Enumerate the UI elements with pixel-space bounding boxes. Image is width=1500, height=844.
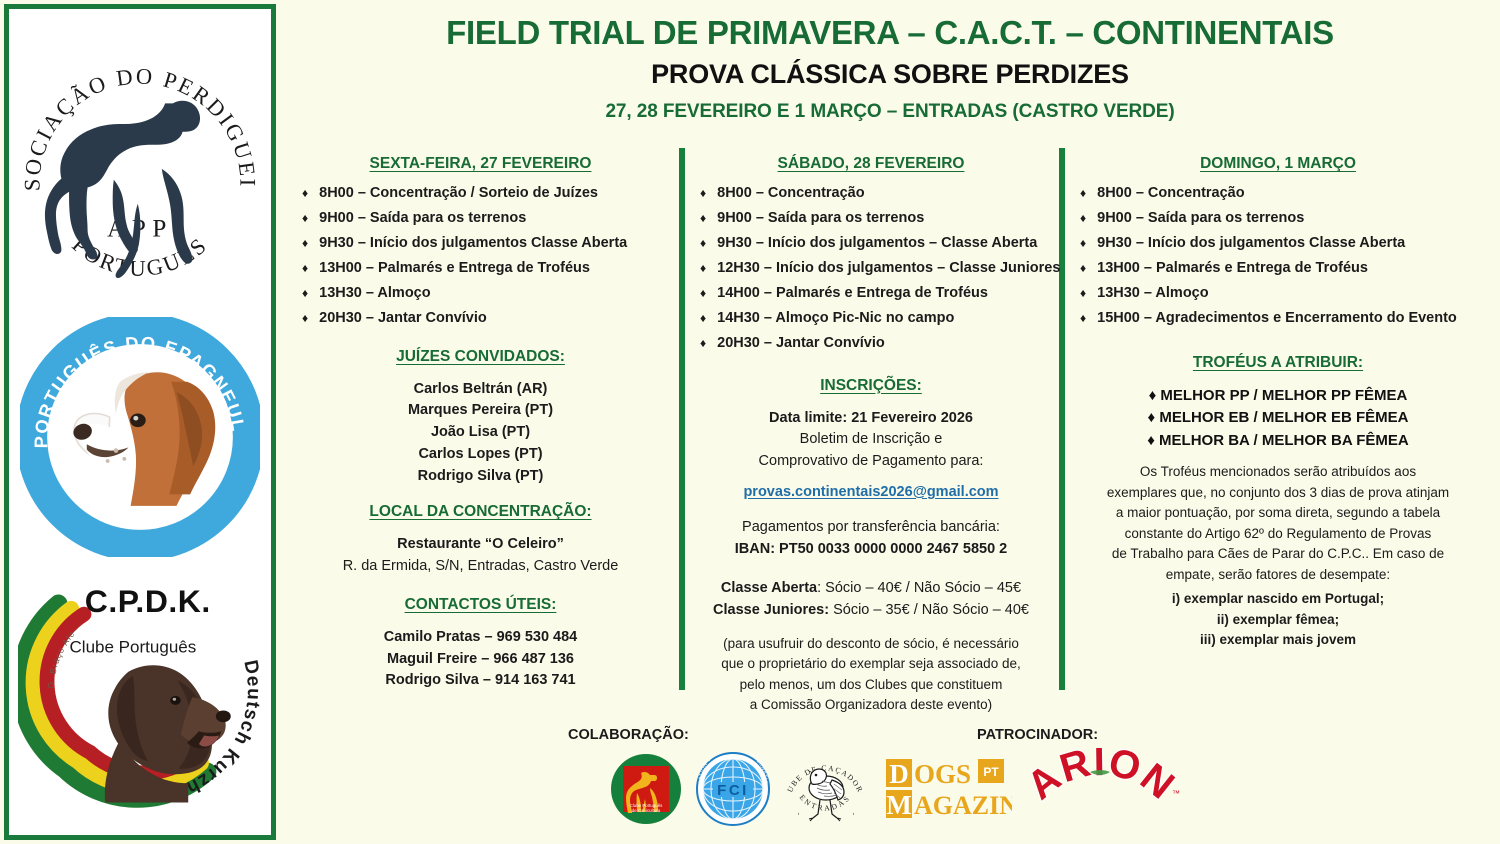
diamond-bullet-icon: ♦	[302, 237, 308, 249]
svg-text:Clube Português: Clube Português	[69, 637, 196, 656]
venue-address: R. da Ermida, S/N, Entradas, Castro Verd…	[288, 556, 673, 578]
saturday-heading: SÁBADO, 28 FEVEREIRO	[690, 155, 1052, 173]
judge-name: Rodrigo Silva (PT)	[288, 466, 673, 488]
fees-section: Classe Aberta: Sócio – 40€ / Não Sócio –…	[690, 578, 1052, 716]
diamond-bullet-icon: ♦	[700, 262, 706, 274]
list-item: ♦14H30 – Almoço Pic-Nic no campo	[700, 311, 1052, 326]
diamond-bullet-icon: ♦	[302, 212, 308, 224]
sidebar-logo-panel: ASSOCIAÇÃO DO PERDIGUEIRO PORTUGUÊS APP	[4, 4, 276, 840]
judge-name: Carlos Beltrán (AR)	[288, 379, 673, 401]
venue-section: LOCAL DA CONCENTRAÇÃO: Restaurante “O Ce…	[288, 503, 673, 578]
svg-text:FCI: FCI	[717, 782, 749, 799]
trophies-section: TROFÉUS A ATRIBUIR: ♦ MELHOR PP / MELHOR…	[1068, 354, 1488, 651]
registration-email-link[interactable]: provas.continentais2026@gmail.com	[743, 484, 998, 500]
tiebreaker-item: i) exemplar nascido em Portugal;	[1068, 589, 1488, 610]
list-item: ♦20H30 – Jantar Convívio	[700, 336, 1052, 351]
list-item: ♦12H30 – Início dos julgamentos – Classe…	[700, 261, 1052, 276]
list-item: ♦8H00 – Concentração	[1080, 186, 1488, 201]
fee-junior-row: Classe Juniores: Sócio – 35€ / Não Sócio…	[690, 600, 1052, 622]
list-item: ♦8H00 – Concentração / Sorteio de Juízes	[302, 186, 673, 201]
trophy-item: ♦ MELHOR BA / MELHOR BA FÊMEA	[1068, 430, 1488, 453]
cpc-logo: Clube Português de Canicultura	[610, 753, 682, 825]
tiebreaker-item: ii) exemplar fêmea;	[1068, 610, 1488, 631]
venue-name: Restaurante “O Celeiro”	[288, 534, 673, 556]
payment-line: Pagamentos por transferência bancária:	[690, 517, 1052, 539]
trophies-heading: TROFÉUS A ATRIBUIR:	[1068, 354, 1488, 372]
fee-open-label: Classe Aberta	[721, 580, 817, 596]
tiebreaker-item: iii) exemplar mais jovem	[1068, 630, 1488, 651]
trophy-note-line: exemplares que, no conjunto dos 3 dias d…	[1068, 483, 1488, 504]
diamond-bullet-icon: ♦	[700, 337, 706, 349]
trophy-note-line: de Trabalho para Cães de Parar do C.P.C.…	[1068, 544, 1488, 565]
svg-text:M: M	[886, 790, 911, 820]
column-friday: SEXTA-FEIRA, 27 FEVEREIRO ♦8H00 – Concen…	[288, 155, 673, 692]
column-sunday: DOMINGO, 1 MARÇO ♦8H00 – Concentração ♦9…	[1068, 155, 1488, 651]
list-item: ♦13H30 – Almoço	[1080, 286, 1488, 301]
diamond-bullet-icon: ♦	[1080, 187, 1086, 199]
registration-heading: INSCRIÇÕES:	[690, 377, 1052, 395]
svg-text:ASSOCIAÇÃO DO PERDIGUEIRO: ASSOCIAÇÃO DO PERDIGUEIRO	[9, 31, 260, 191]
judges-section: JUÍZES CONVIDADOS: Carlos Beltrán (AR) M…	[288, 348, 673, 488]
svg-text:D: D	[889, 759, 909, 789]
friday-heading: SEXTA-FEIRA, 27 FEVEREIRO	[288, 155, 673, 173]
app-logo: ASSOCIAÇÃO DO PERDIGUEIRO PORTUGUÊS APP	[9, 31, 271, 311]
venue-heading: LOCAL DA CONCENTRAÇÃO:	[288, 503, 673, 521]
contacts-heading: CONTACTOS ÚTEIS:	[288, 596, 673, 614]
contact-entry: Rodrigo Silva – 914 163 741	[288, 670, 673, 692]
page-title: FIELD TRIAL DE PRIMAVERA – C.A.C.T. – CO…	[290, 14, 1490, 52]
judge-name: Marques Pereira (PT)	[288, 400, 673, 422]
diamond-bullet-icon: ♦	[700, 212, 706, 224]
trophy-item: ♦ MELHOR EB / MELHOR EB FÊMEA	[1068, 407, 1488, 430]
trophy-note-line: constante do Artigo 62º do Regulamento d…	[1068, 524, 1488, 545]
registration-deadline: Data limite: 21 Fevereiro 2026	[690, 408, 1052, 430]
list-item: ♦9H30 – Início dos julgamentos Classe Ab…	[302, 236, 673, 251]
fee-open-value: : Sócio – 40€ / Não Sócio – 45€	[817, 580, 1021, 596]
judge-name: Carlos Lopes (PT)	[288, 444, 673, 466]
collaboration-label: COLABORAÇÃO:	[568, 727, 689, 743]
column-saturday: SÁBADO, 28 FEVEREIRO ♦8H00 – Concentraçã…	[690, 155, 1052, 716]
sponsor-label: PATROCINADOR:	[977, 727, 1098, 743]
sponsor-logos: ARION ™	[1022, 748, 1180, 820]
list-item: ♦20H30 – Jantar Convívio	[302, 311, 673, 326]
svg-text:OGS: OGS	[914, 759, 971, 789]
svg-text:AGAZINE: AGAZINE	[914, 791, 1012, 820]
fee-junior-value: Sócio – 35€ / Não Sócio – 40€	[829, 602, 1029, 618]
fee-note-line: a Comissão Organizadora deste evento)	[690, 695, 1052, 716]
fee-note-line: pelo menos, um dos Clubes que constituem	[690, 675, 1052, 696]
svg-text:ARION: ARION	[1022, 748, 1180, 808]
registration-form-line-1: Boletim de Inscrição e	[690, 429, 1052, 451]
diamond-bullet-icon: ♦	[1148, 409, 1160, 426]
diamond-bullet-icon: ♦	[302, 312, 308, 324]
svg-text:PT: PT	[983, 765, 999, 779]
list-item: ♦9H00 – Saída para os terrenos	[302, 211, 673, 226]
friday-schedule-list: ♦8H00 – Concentração / Sorteio de Juízes…	[288, 186, 673, 326]
diamond-bullet-icon: ♦	[700, 187, 706, 199]
iban-value: IBAN: PT50 0033 0000 0000 2467 5850 2	[690, 539, 1052, 561]
list-item: ♦9H30 – Início dos julgamentos Classe Ab…	[1080, 236, 1488, 251]
contact-entry: Camilo Pratas – 969 530 484	[288, 627, 673, 649]
list-item: ♦8H00 – Concentração	[700, 186, 1052, 201]
cpeb-logo: CLUBE PORTUGUÊS DO EPAGNEUL BRETON CPEB	[9, 311, 271, 557]
diamond-bullet-icon: ♦	[700, 312, 706, 324]
svg-text:·: ·	[852, 809, 855, 819]
collaborator-logos: Clube Português de Canicultura FCI	[610, 748, 1012, 830]
diamond-bullet-icon: ♦	[700, 287, 706, 299]
svg-text:de Canicultura: de Canicultura	[632, 808, 661, 813]
judge-name: João Lisa (PT)	[288, 422, 673, 444]
diamond-bullet-icon: ♦	[302, 262, 308, 274]
fee-junior-label: Classe Juniores:	[713, 602, 829, 618]
diamond-bullet-icon: ♦	[1080, 312, 1086, 324]
column-divider-1	[679, 148, 685, 690]
page-dates: 27, 28 FEVEREIRO E 1 MARÇO – ENTRADAS (C…	[290, 101, 1490, 123]
column-divider-2	[1059, 148, 1065, 690]
trophy-note-line: empate, serão fatores de desempate:	[1068, 565, 1488, 586]
list-item: ♦9H00 – Saída para os terrenos	[700, 211, 1052, 226]
list-item: ♦14H00 – Palmarés e Entrega de Troféus	[700, 286, 1052, 301]
clube-cacadores-entradas-logo: CLUBE DE CAÇADORES ENTRADAS · ·	[784, 748, 866, 830]
dogs-pt-magazine-logo: D OGS PT M AGAZINE	[886, 757, 1012, 821]
list-item: ♦13H00 – Palmarés e Entrega de Troféus	[1080, 261, 1488, 276]
diamond-bullet-icon: ♦	[700, 237, 706, 249]
saturday-schedule-list: ♦8H00 – Concentração ♦9H00 – Saída para …	[690, 186, 1052, 351]
diamond-bullet-icon: ♦	[302, 187, 308, 199]
poster-header: FIELD TRIAL DE PRIMAVERA – C.A.C.T. – CO…	[290, 14, 1490, 123]
arion-logo: ARION ™	[1022, 748, 1180, 820]
svg-text:C.P.D.K.: C.P.D.K.	[84, 583, 210, 619]
svg-text:·: ·	[797, 809, 800, 819]
poster-root: ASSOCIAÇÃO DO PERDIGUEIRO PORTUGUÊS APP	[0, 0, 1500, 844]
judges-heading: JUÍZES CONVIDADOS:	[288, 348, 673, 366]
list-item: ♦9H00 – Saída para os terrenos	[1080, 211, 1488, 226]
svg-text:™: ™	[1172, 789, 1180, 798]
diamond-bullet-icon: ♦	[302, 287, 308, 299]
list-item: ♦13H30 – Almoço	[302, 286, 673, 301]
trophy-item: ♦ MELHOR PP / MELHOR PP FÊMEA	[1068, 385, 1488, 408]
diamond-bullet-icon: ♦	[1080, 287, 1086, 299]
trophy-note-line: a maior pontuação, por soma direta, segu…	[1068, 503, 1488, 524]
fee-note-line: que o proprietário do exemplar seja asso…	[690, 654, 1052, 675]
list-item: ♦13H00 – Palmarés e Entrega de Troféus	[302, 261, 673, 276]
diamond-bullet-icon: ♦	[1149, 387, 1161, 404]
sunday-heading: DOMINGO, 1 MARÇO	[1068, 155, 1488, 173]
contact-entry: Maguil Freire – 966 487 136	[288, 649, 673, 671]
diamond-bullet-icon: ♦	[1080, 237, 1086, 249]
list-item: ♦15H00 – Agradecimentos e Encerramento d…	[1080, 311, 1488, 326]
page-subtitle: PROVA CLÁSSICA SOBRE PERDIZES	[290, 59, 1490, 90]
registration-form-line-2: Comprovativo de Pagamento para:	[690, 451, 1052, 473]
fee-open-row: Classe Aberta: Sócio – 40€ / Não Sócio –…	[690, 578, 1052, 600]
registration-section: INSCRIÇÕES: Data limite: 21 Fevereiro 20…	[690, 377, 1052, 561]
diamond-bullet-icon: ♦	[1080, 212, 1086, 224]
trophy-note-line: Os Troféus mencionados serão atribuídos …	[1068, 462, 1488, 483]
cpdk-logo: C.P.D.K. Clube Português Deutsch Kurzhaa…	[9, 557, 271, 811]
sunday-schedule-list: ♦8H00 – Concentração ♦9H00 – Saída para …	[1068, 186, 1488, 326]
diamond-bullet-icon: ♦	[1080, 262, 1086, 274]
diamond-bullet-icon: ♦	[1147, 432, 1159, 449]
fee-note-line: (para usufruir do desconto de sócio, é n…	[690, 634, 1052, 655]
list-item: ♦9H30 – Início dos julgamentos – Classe …	[700, 236, 1052, 251]
fci-logo: FCI FEDERATION CYNOLOGIQUE INTERNATIONAL…	[696, 752, 770, 826]
contacts-section: CONTACTOS ÚTEIS: Camilo Pratas – 969 530…	[288, 596, 673, 692]
